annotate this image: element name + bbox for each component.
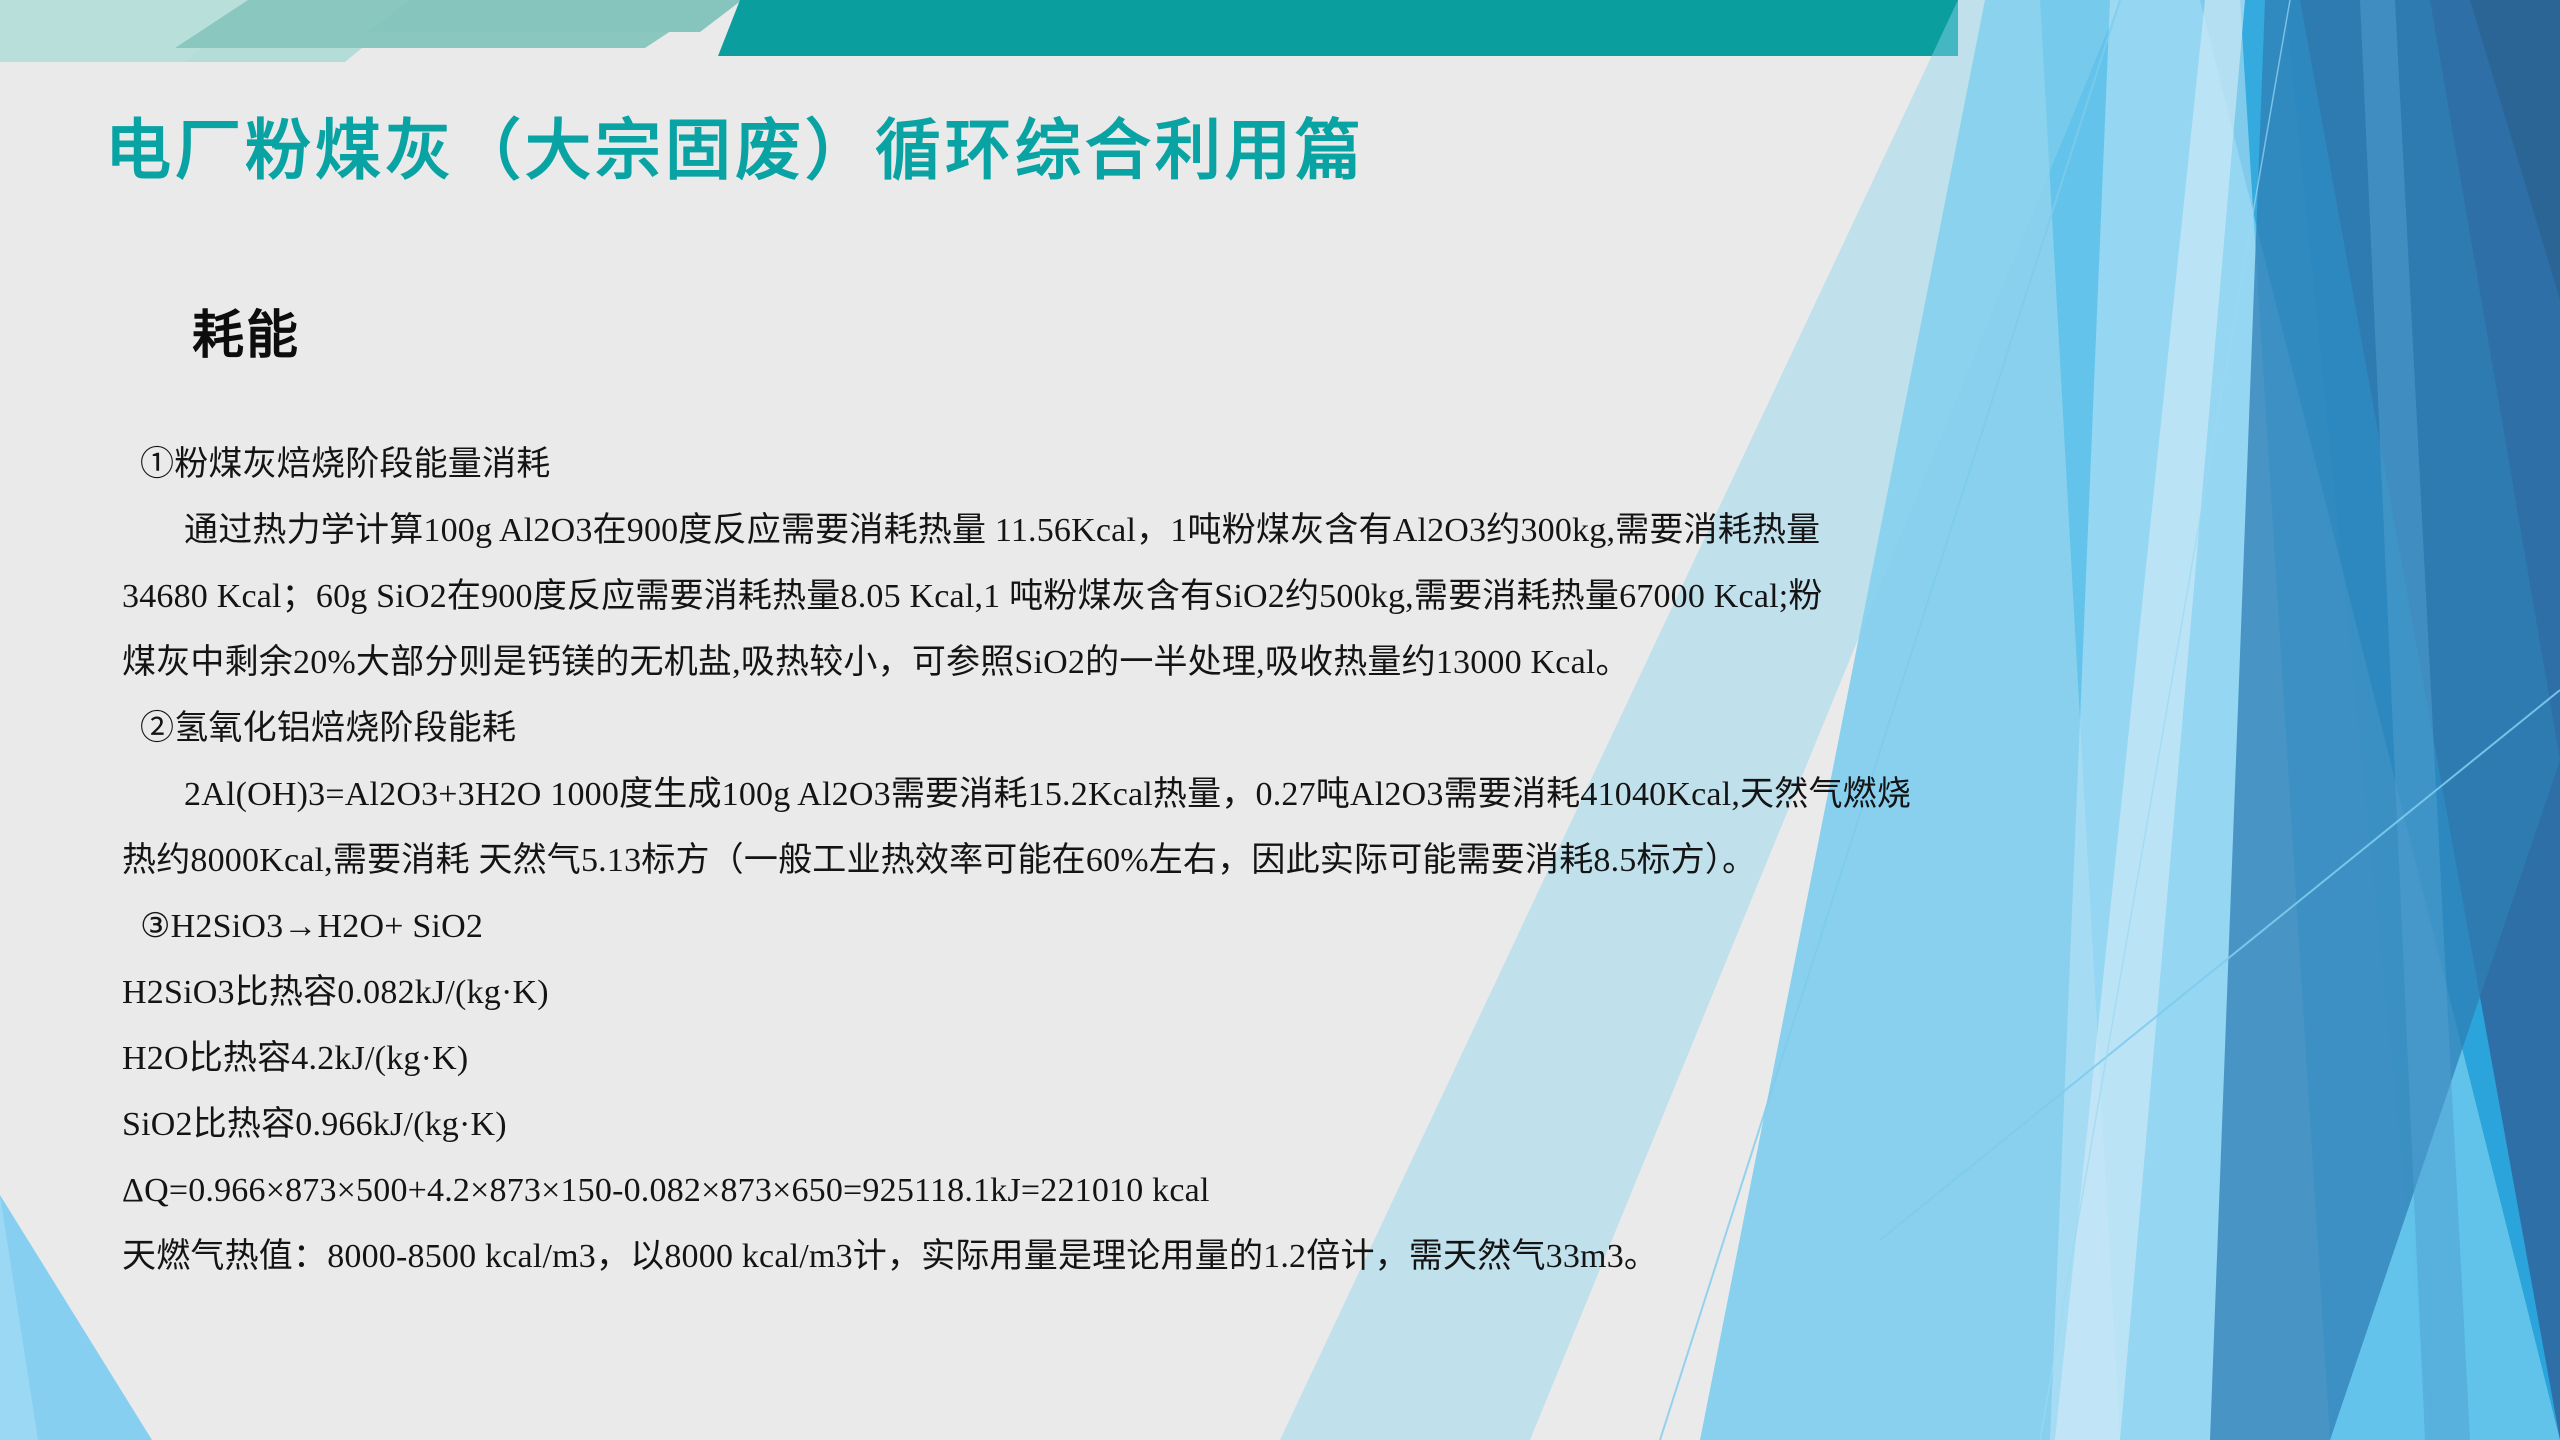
body-content: ①粉煤灰焙烧阶段能量消耗 通过热力学计算100g Al2O3在900度反应需要消… bbox=[122, 432, 2452, 1290]
bottom-left-triangle-edge bbox=[0, 1195, 38, 1440]
slide-canvas: 电厂粉煤灰（大宗固废）循环综合利用篇 耗能 ①粉煤灰焙烧阶段能量消耗 通过热力学… bbox=[0, 0, 2560, 1440]
item2-heading: ②氢氧化铝焙烧阶段能耗 bbox=[122, 696, 2452, 762]
item3-line-1: H2SiO3比热容0.082kJ/(kg·K) bbox=[122, 960, 2452, 1026]
item1-heading: ①粉煤灰焙烧阶段能量消耗 bbox=[122, 432, 2452, 498]
top-teal-bar bbox=[718, 0, 1958, 56]
item3-line-5: 天燃气热值：8000-8500 kcal/m3，以8000 kcal/m3计，实… bbox=[122, 1224, 2452, 1290]
top-left-ribbon-pale-2 bbox=[0, 0, 255, 62]
title-block: 电厂粉煤灰（大宗固废）循环综合利用篇 bbox=[105, 115, 1805, 189]
item3-heading: ③H2SiO3→H2O+ SiO2 bbox=[122, 894, 2452, 960]
top-left-ribbon-medium bbox=[175, 0, 718, 48]
item1-line-2: 34680 Kcal；60g SiO2在900度反应需要消耗热量8.05 Kca… bbox=[122, 564, 2452, 630]
item1-line-1: 通过热力学计算100g Al2O3在900度反应需要消耗热量 11.56Kcal… bbox=[122, 498, 2452, 564]
section-heading: 耗能 bbox=[192, 308, 300, 365]
item1-line-3: 煤灰中剩余20%大部分则是钙镁的无机盐,吸热较小，可参照SiO2的一半处理,吸收… bbox=[122, 630, 2452, 696]
item2-line-2: 热约8000Kcal,需要消耗 天然气5.13标方（一般工业热效率可能在60%左… bbox=[122, 828, 2452, 894]
item3-line-2: H2O比热容4.2kJ/(kg·K) bbox=[122, 1026, 2452, 1092]
right-wedge-navy-2 bbox=[2300, 0, 2560, 300]
page-title: 电厂粉煤灰（大宗固废）循环综合利用篇 bbox=[105, 115, 1805, 189]
item3-line-4: ΔQ=0.966×873×500+4.2×873×150-0.082×873×6… bbox=[122, 1158, 2452, 1224]
top-left-ribbon-medium-2 bbox=[368, 0, 742, 32]
item2-line-1: 2Al(OH)3=Al2O3+3H2O 1000度生成100g Al2O3需要消… bbox=[122, 762, 2452, 828]
item3-line-3: SiO2比热容0.966kJ/(kg·K) bbox=[122, 1092, 2452, 1158]
top-left-ribbon-pale bbox=[0, 0, 420, 62]
